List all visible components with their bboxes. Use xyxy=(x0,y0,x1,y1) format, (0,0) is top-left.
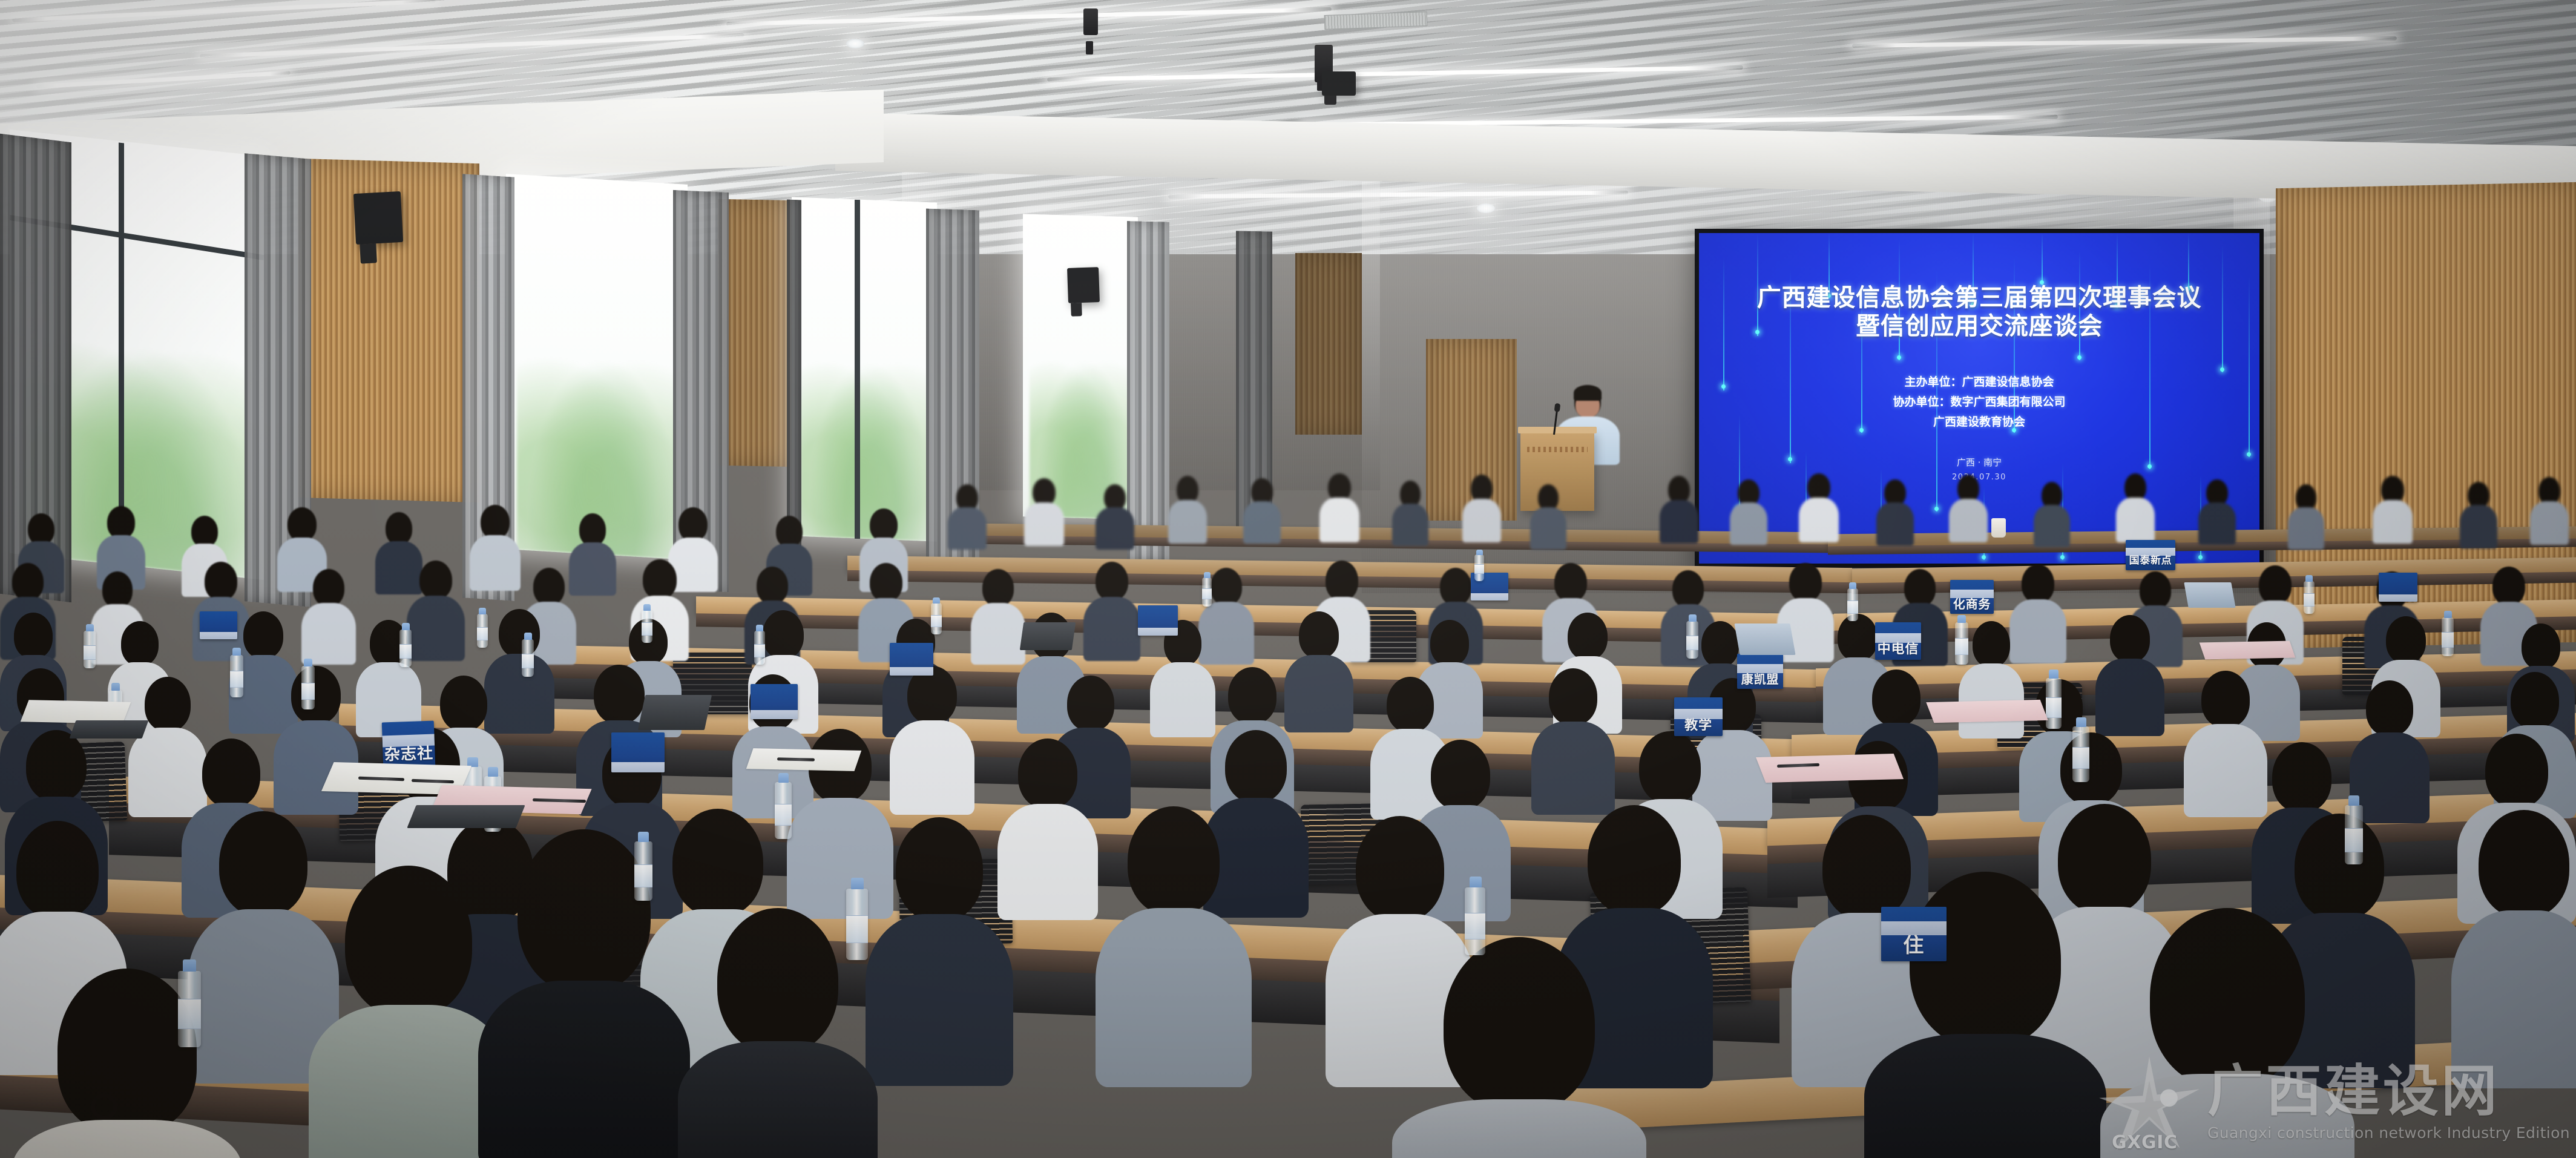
screen-coorganizer-line1: 协办单位：数字广西集团有限公司 xyxy=(1893,392,2065,412)
water-bottle xyxy=(477,614,488,648)
table-nameplate xyxy=(2379,573,2417,602)
laptop xyxy=(2184,582,2235,608)
nameplate-header-strip xyxy=(1737,664,1783,673)
laptop xyxy=(638,695,712,730)
ceiling-projector-secondary xyxy=(1083,8,1098,35)
window-left-2 xyxy=(506,174,688,560)
screen-coorganizer-line2: 广西建设教育协会 xyxy=(1893,412,2065,432)
nameplate-header-strip xyxy=(382,734,435,747)
audience-member xyxy=(2350,680,2430,815)
nameplate-header-strip xyxy=(1875,633,1921,643)
audience-member xyxy=(1462,475,1501,539)
water-bottle xyxy=(775,782,792,839)
audience-member xyxy=(1949,475,1988,539)
screen-organizers: 主办单位：广西建设信息协会 协办单位：数字广西集团有限公司 广西建设教育协会 xyxy=(1893,372,2065,432)
window-left-4 xyxy=(1023,214,1138,519)
window-left-3 xyxy=(792,197,937,541)
audience-member xyxy=(2460,482,2497,545)
audience-member xyxy=(2116,473,2155,539)
table-nameplate: 杂志社 xyxy=(382,721,436,768)
water-bottle xyxy=(84,631,96,668)
audience-member xyxy=(2373,476,2413,540)
conference-photo: 广西建设信息协会第三届第四次理事会议 暨信创应用交流座谈会 主办单位：广西建设信… xyxy=(0,0,2576,1158)
podium-logo xyxy=(1527,447,1588,452)
audience-member xyxy=(1243,478,1281,540)
wood-slat-panel-mid xyxy=(718,199,797,467)
audience-member xyxy=(1660,476,1698,540)
screen-organizer-line: 主办单位：广西建设信息协会 xyxy=(1893,372,2065,392)
teacup xyxy=(1991,518,2006,538)
audience-member xyxy=(1284,611,1353,724)
audience-member xyxy=(1083,562,1140,654)
water-bottle xyxy=(1847,588,1858,621)
audience-member xyxy=(2198,479,2236,541)
water-bottle xyxy=(522,639,534,677)
audience-member xyxy=(1531,668,1615,806)
table-nameplate xyxy=(751,684,798,719)
audience-member xyxy=(1096,484,1134,545)
document-paper xyxy=(1756,754,1904,783)
wall-speaker xyxy=(1067,267,1100,303)
laptop xyxy=(1020,622,1076,650)
table-nameplate: 化商务 xyxy=(1950,580,1994,614)
water-bottle xyxy=(2442,617,2454,656)
document-paper xyxy=(1926,700,2048,723)
audience-member xyxy=(2530,477,2569,541)
water-bottle xyxy=(846,889,868,960)
audience-member xyxy=(2451,810,2576,1070)
water-bottle xyxy=(1955,622,1968,665)
recessed-downlight xyxy=(846,39,864,48)
audience-member xyxy=(1876,479,1914,542)
audience-member xyxy=(1168,476,1207,539)
water-bottle xyxy=(1202,577,1212,607)
water-bottle xyxy=(301,666,315,709)
audience-member xyxy=(2095,615,2164,728)
audience-member xyxy=(470,505,521,584)
screen-title-line2: 暨信创应用交流座谈会 xyxy=(1856,312,2103,341)
podium-top-surface xyxy=(1518,427,1597,433)
water-bottle xyxy=(931,603,942,634)
nameplate-text: 化商务 xyxy=(1950,598,1994,614)
water-bottle xyxy=(2345,805,2363,864)
window-mullion xyxy=(855,200,860,539)
table-nameplate: 教学 xyxy=(1674,697,1723,736)
water-bottle xyxy=(1474,554,1484,581)
nameplate-header-strip xyxy=(1881,921,1947,935)
table-nameplate: 国泰新点 xyxy=(2126,540,2175,570)
water-bottle xyxy=(2046,678,2062,729)
audience-member xyxy=(1799,473,1839,539)
water-bottle xyxy=(230,655,243,697)
audience-member xyxy=(301,569,356,657)
audience-member xyxy=(1319,473,1359,539)
nameplate-header-strip xyxy=(1674,709,1723,719)
water-bottle xyxy=(2072,726,2089,782)
audience-member xyxy=(1530,484,1566,545)
audience-member xyxy=(948,484,987,545)
water-bottle xyxy=(2304,581,2315,614)
audience-member xyxy=(1024,478,1064,541)
water-bottle xyxy=(1686,621,1698,659)
eyeglasses-frame xyxy=(91,1093,117,1120)
table-nameplate xyxy=(1138,605,1178,636)
nameplate-text: 国泰新点 xyxy=(2126,556,2175,570)
water-bottle xyxy=(1465,887,1485,955)
audience-member xyxy=(1730,479,1767,541)
wall-speaker xyxy=(353,191,403,245)
laptop-closed xyxy=(407,805,525,828)
wall-speaker-ceiling xyxy=(1322,71,1356,96)
audience-member-foreground xyxy=(12,969,242,1158)
document-paper xyxy=(2200,641,2296,660)
table-nameplate xyxy=(611,732,665,772)
water-bottle xyxy=(634,841,652,901)
screen-location: 广西 · 南宁 xyxy=(1957,456,2002,469)
nameplate-text: 康凯盟 xyxy=(1737,673,1783,689)
laptop xyxy=(1734,623,1795,655)
audience-member xyxy=(866,817,1013,1069)
nameplate-text: 教学 xyxy=(1674,719,1723,736)
audience-member xyxy=(2034,482,2070,542)
audience-member xyxy=(890,666,974,805)
water-bottle xyxy=(754,631,765,665)
table-nameplate: 住 xyxy=(1881,907,1947,961)
water-bottle xyxy=(178,971,201,1047)
table-nameplate xyxy=(200,611,237,639)
nameplate-header-strip xyxy=(2126,548,2175,556)
water-bottle xyxy=(642,610,652,643)
table-nameplate: 康凯盟 xyxy=(1737,654,1783,689)
screen-title-line1: 广西建设信息协会第三届第四次理事会议 xyxy=(1757,284,2201,312)
audience-member xyxy=(1392,481,1428,541)
table-nameplate: 中电信 xyxy=(1875,622,1921,660)
laptop-closed xyxy=(70,720,149,739)
audience-member-foreground xyxy=(2100,908,2354,1158)
audience-member-foreground xyxy=(1392,937,1646,1158)
nameplate-header-strip xyxy=(1950,590,1994,599)
audience-member xyxy=(1150,620,1215,729)
nameplate-text: 住 xyxy=(1881,935,1947,961)
presenter-hair xyxy=(1574,385,1602,401)
window-mullion xyxy=(119,143,124,567)
audience-member-foreground xyxy=(478,829,690,1158)
audience-member xyxy=(2288,484,2324,545)
wood-slat-panel-column xyxy=(1295,253,1362,435)
water-bottle xyxy=(399,630,412,667)
table-nameplate xyxy=(890,643,933,676)
nameplate-text: 中电信 xyxy=(1875,643,1921,660)
audience-member xyxy=(1096,806,1252,1069)
